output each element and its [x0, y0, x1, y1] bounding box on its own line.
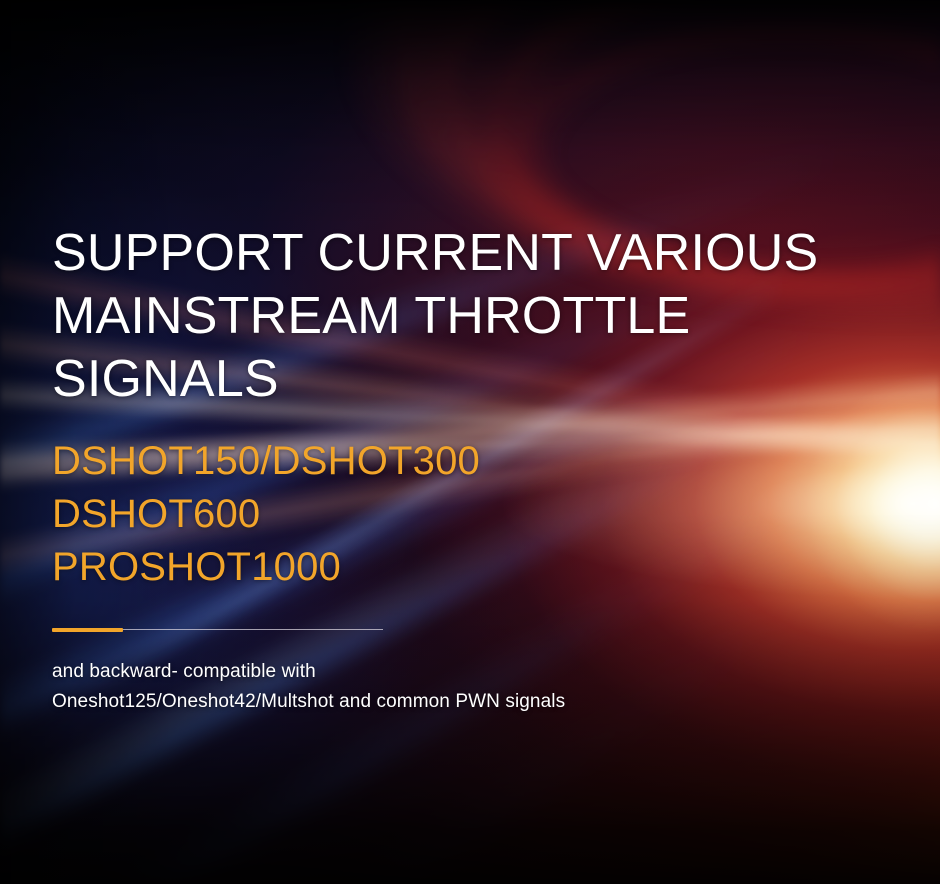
divider-accent-segment	[52, 628, 123, 632]
banner-canvas: SUPPORT CURRENT VARIOUS MAINSTREAM THROT…	[0, 0, 940, 884]
spec-item-dshot150-dshot300: DSHOT150/DSHOT300	[52, 435, 902, 488]
banner-content: SUPPORT CURRENT VARIOUS MAINSTREAM THROT…	[52, 222, 902, 717]
divider	[52, 628, 383, 632]
spec-item-dshot600: DSHOT600	[52, 488, 902, 541]
footnote-block: and backward- compatible with Oneshot125…	[52, 657, 902, 717]
divider-thin-rule	[123, 629, 383, 630]
supported-protocol-list: DSHOT150/DSHOT300 DSHOT600 PROSHOT1000	[52, 435, 902, 594]
footnote-line-2: Oneshot125/Oneshot42/Multshot and common…	[52, 687, 902, 717]
headline-title: SUPPORT CURRENT VARIOUS MAINSTREAM THROT…	[52, 222, 902, 411]
spec-item-proshot1000: PROSHOT1000	[52, 541, 902, 594]
footnote-line-1: and backward- compatible with	[52, 657, 902, 687]
